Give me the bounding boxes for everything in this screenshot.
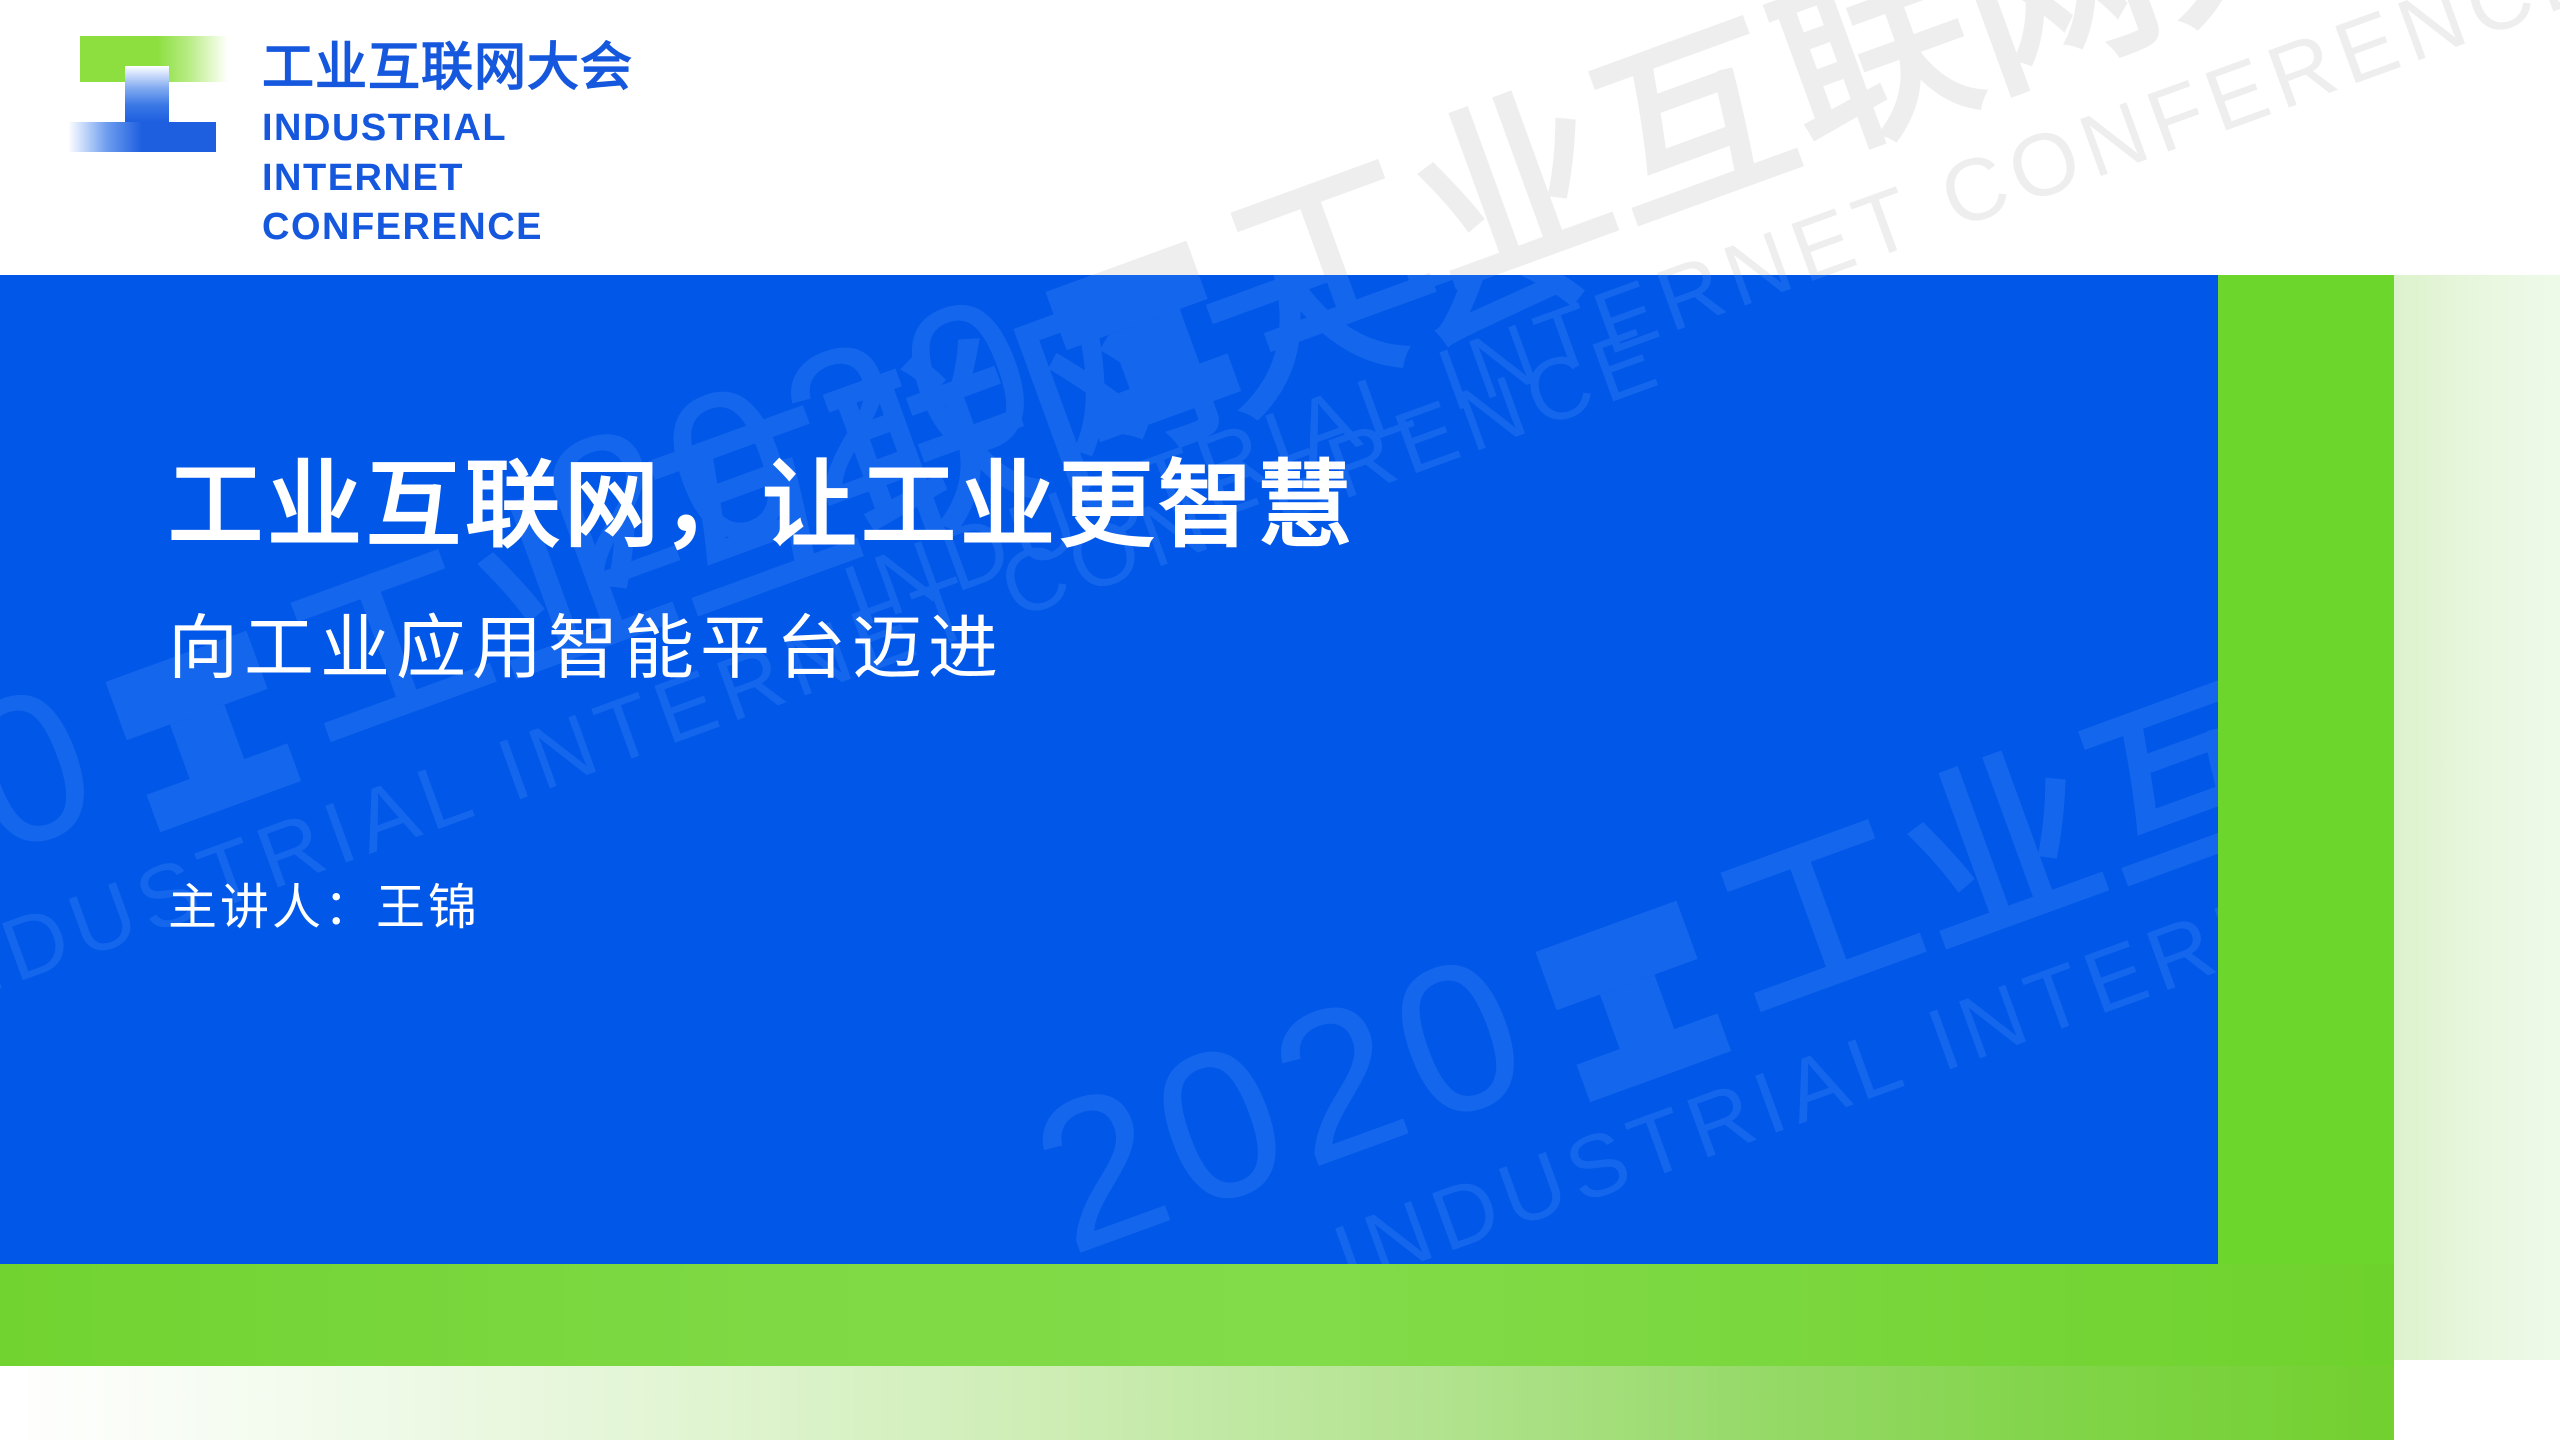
industrial-i-logo-icon <box>68 36 228 152</box>
slide-title: 工业互联网，让工业更智慧 <box>168 450 2218 562</box>
watermark-year: 2020 <box>1010 917 1558 1264</box>
bottom-green-fade-bar <box>0 1366 2394 1440</box>
presentation-slide: 2020 工业互联网大会 INDUSTRIAL INTERNET CONFERE… <box>0 0 2560 1440</box>
conference-logo: 工业互联网大会 INDUSTRIAL INTERNET CONFERENCE <box>68 36 633 252</box>
slide-subtitle: 向工业应用智能平台迈进 <box>168 606 2218 690</box>
slide-header: 工业互联网大会 INDUSTRIAL INTERNET CONFERENCE <box>0 0 2560 275</box>
bottom-green-bar <box>0 1264 2394 1366</box>
hero-content: 工业互联网，让工业更智慧 向工业应用智能平台迈进 主讲人：王锦 <box>0 275 2218 939</box>
logo-cn-name: 工业互联网大会 <box>262 40 633 96</box>
light-green-gradient-column <box>2394 275 2560 1360</box>
logo-en-line-1: INDUSTRIAL <box>262 104 633 153</box>
speaker-label: 主讲人：王锦 <box>168 868 2218 939</box>
logo-en-line-2: INTERNET <box>262 154 633 203</box>
hero-panel: 2020 工业互联网大会 INDUSTRIAL INTERNET CONFERE… <box>0 275 2218 1264</box>
logo-en-line-3: CONFERENCE <box>262 203 633 252</box>
logo-en-name: INDUSTRIAL INTERNET CONFERENCE <box>262 104 633 252</box>
logo-text-block: 工业互联网大会 INDUSTRIAL INTERNET CONFERENCE <box>262 36 633 252</box>
